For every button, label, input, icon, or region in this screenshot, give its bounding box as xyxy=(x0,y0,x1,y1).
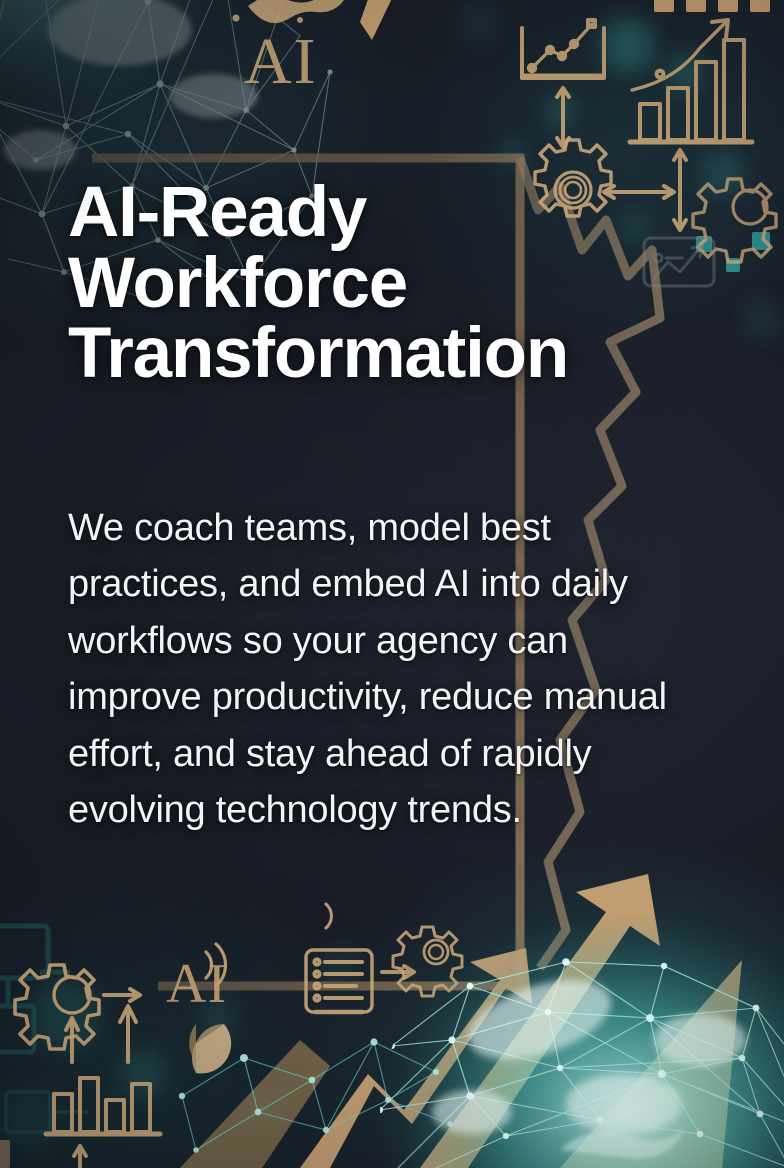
page-title: AI-Ready Workforce Transformation xyxy=(68,178,708,390)
gold-shard-decor xyxy=(360,0,394,40)
checklist-document-icon xyxy=(306,950,372,1012)
arrow-right-icon xyxy=(104,989,140,1001)
hero-banner: AI xyxy=(0,0,784,1168)
ai-wordmark-top: AI xyxy=(244,24,318,100)
growth-arrow-icon xyxy=(560,960,742,1168)
pie-signal-icon xyxy=(189,1024,231,1073)
gold-bar-blocks xyxy=(0,1140,10,1168)
growth-arrow-icon xyxy=(420,874,660,1168)
bar-chart-icon xyxy=(46,1006,160,1168)
growth-arrow-icon xyxy=(180,1040,330,1168)
line-chart-framed-icon xyxy=(522,20,604,78)
gear-icon xyxy=(393,927,462,996)
hero-content: AI-Ready Workforce Transformation We coa… xyxy=(68,178,708,839)
growth-arrow-icon xyxy=(300,948,532,1168)
gear-icon xyxy=(15,965,99,1049)
ai-wordmark-bottom: AI xyxy=(166,952,227,1016)
gold-bar-blocks xyxy=(654,0,770,12)
gold-splash-decor xyxy=(233,0,345,23)
bar-chart-trend-icon xyxy=(630,20,752,142)
arrow-right-icon xyxy=(382,966,414,978)
hero-description: We coach teams, model best practices, an… xyxy=(68,500,708,839)
double-arrow-vertical-icon xyxy=(557,88,569,147)
